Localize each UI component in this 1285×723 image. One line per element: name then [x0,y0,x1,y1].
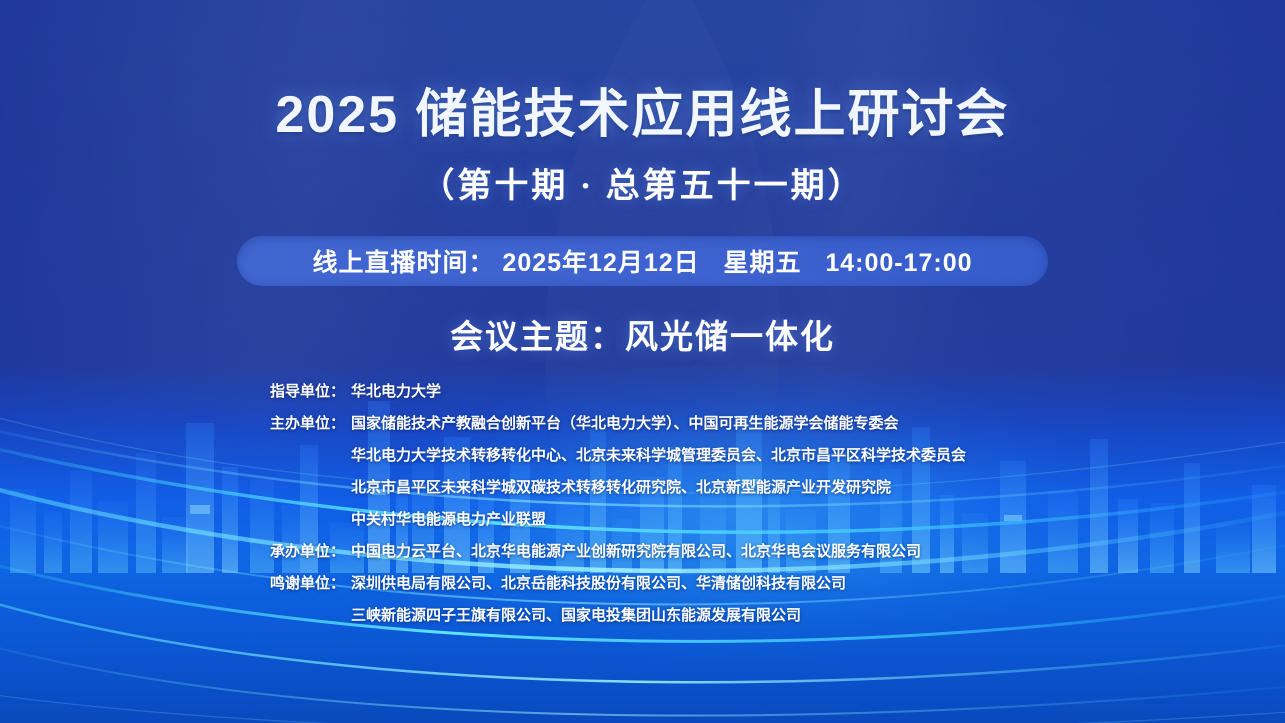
organizer-row: 主办单位： 国家储能技术产教融合创新平台（华北电力大学）、中国可再生能源学会储能… [0,412,1285,444]
organizer-row: 中关村华电能源电力产业联盟 [0,508,1285,540]
organizer-text: 华北电力大学 [351,380,441,401]
organizer-label: 指导单位： [0,380,345,401]
page-title: 2025 储能技术应用线上研讨会 [0,72,1285,147]
organizer-text: 深圳供电局有限公司、北京岳能科技股份有限公司、华清储创科技有限公司 [351,572,846,593]
organizer-row: 三峡新能源四子王旗有限公司、国家电投集团山东能源发展有限公司 [0,604,1285,636]
organizer-text: 中国电力云平台、北京华电能源产业创新研究院有限公司、北京华电会议服务有限公司 [351,540,921,561]
live-time-banner: 线上直播时间： 2025年12月12日 星期五 14:00-17:00 [237,236,1048,286]
organizer-row: 指导单位： 华北电力大学 [0,380,1285,412]
organizer-text: 三峡新能源四子王旗有限公司、国家电投集团山东能源发展有限公司 [351,604,801,625]
live-time-text: 线上直播时间： 2025年12月12日 星期五 14:00-17:00 [312,243,972,279]
poster-content: 2025 储能技术应用线上研讨会 （第十期 · 总第五十一期） 线上直播时间： … [0,0,1285,723]
organizer-label: 主办单位： [0,412,345,433]
organizer-label: 承办单位： [0,540,345,561]
organizer-text: 国家储能技术产教融合创新平台（华北电力大学）、中国可再生能源学会储能专委会 [351,412,899,433]
organizer-row: 承办单位： 中国电力云平台、北京华电能源产业创新研究院有限公司、北京华电会议服务… [0,540,1285,572]
organizer-text: 北京市昌平区未来科学城双碳技术转移转化研究院、北京新型能源产业开发研究院 [351,476,891,497]
page-subtitle: （第十期 · 总第五十一期） [0,158,1285,207]
organizer-text: 中关村华电能源电力产业联盟 [351,508,546,529]
organizer-row: 鸣谢单位： 深圳供电局有限公司、北京岳能科技股份有限公司、华清储创科技有限公司 [0,572,1285,604]
organizer-text: 华北电力大学技术转移转化中心、北京未来科学城管理委员会、北京市昌平区科学技术委员… [351,444,966,465]
conference-theme: 会议主题：风光储一体化 [0,310,1285,358]
organizer-row: 北京市昌平区未来科学城双碳技术转移转化研究院、北京新型能源产业开发研究院 [0,476,1285,508]
organizer-label: 鸣谢单位： [0,572,345,593]
conference-poster: 2025 储能技术应用线上研讨会 （第十期 · 总第五十一期） 线上直播时间： … [0,0,1285,723]
organizer-list: 指导单位： 华北电力大学 主办单位： 国家储能技术产教融合创新平台（华北电力大学… [0,380,1285,636]
organizer-row: 华北电力大学技术转移转化中心、北京未来科学城管理委员会、北京市昌平区科学技术委员… [0,444,1285,476]
